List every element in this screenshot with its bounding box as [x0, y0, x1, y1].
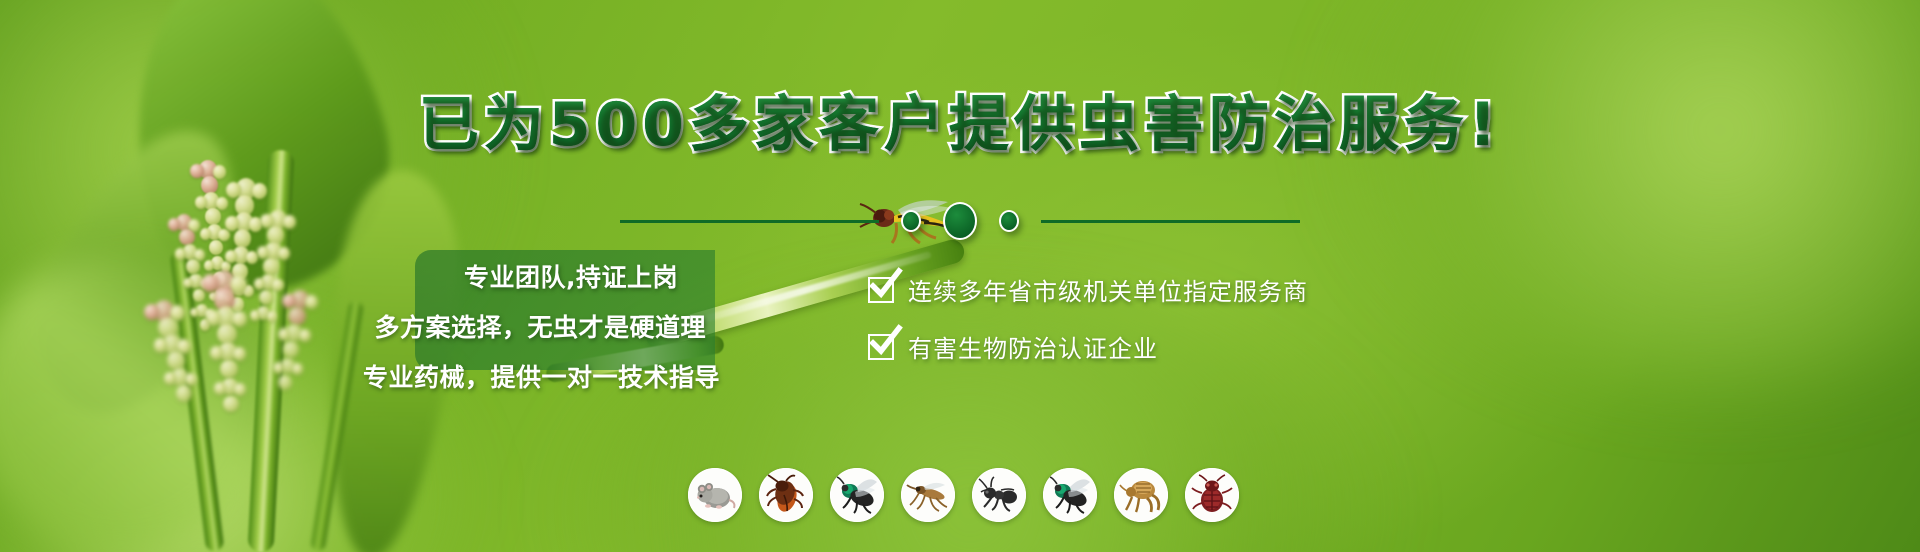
divider-rule-right: [1041, 220, 1300, 223]
flower-bud-cluster: [150, 150, 370, 480]
bullet-label: 有害生物防治认证企业: [908, 329, 1158, 364]
divider-rule-left: [620, 220, 879, 223]
checkbox-checked-icon: [868, 277, 894, 303]
banner-headline: 已为500多家客户提供虫害防治服务! 已为500多家客户提供虫害防治服务!: [0, 76, 1920, 163]
divider-dot-small-left: [901, 210, 921, 232]
checkbox-checked-icon: [868, 334, 894, 360]
blowfly-icon[interactable]: [830, 468, 884, 522]
mosquito-icon[interactable]: [901, 468, 955, 522]
flea-icon[interactable]: [1114, 468, 1168, 522]
divider-dot-small-right: [999, 210, 1019, 232]
claim-item: 专业团队,持证上岗: [464, 258, 720, 294]
bullet-label: 连续多年省市级机关单位指定服务商: [908, 272, 1308, 307]
mouse-icon[interactable]: [688, 468, 742, 522]
headline-fill: 已为500多家客户提供虫害防治服务!: [0, 76, 1920, 163]
housefly-icon[interactable]: [1043, 468, 1097, 522]
ant-icon[interactable]: [972, 468, 1026, 522]
bullet-item: 连续多年省市级机关单位指定服务商: [868, 272, 1308, 307]
cockroach-icon[interactable]: [759, 468, 813, 522]
certification-bullets: 连续多年省市级机关单位指定服务商 有害生物防治认证企业: [868, 272, 1308, 364]
claim-item: 多方案选择，无虫才是硬道理: [374, 308, 720, 344]
claims-list: 专业团队,持证上岗 多方案选择，无虫才是硬道理 专业药械，提供一对一技术指导: [340, 258, 720, 394]
decorative-divider: [620, 205, 1300, 237]
promo-banner: 已为500多家客户提供虫害防治服务! 已为500多家客户提供虫害防治服务! 专业…: [0, 0, 1920, 552]
bullet-item: 有害生物防治认证企业: [868, 329, 1308, 364]
claim-item: 专业药械，提供一对一技术指导: [363, 358, 720, 394]
background-blur-blob: [1340, 0, 1920, 390]
divider-dot-large: [943, 202, 977, 240]
bedbug-icon[interactable]: [1185, 468, 1239, 522]
pest-icon-row: [688, 468, 1239, 522]
